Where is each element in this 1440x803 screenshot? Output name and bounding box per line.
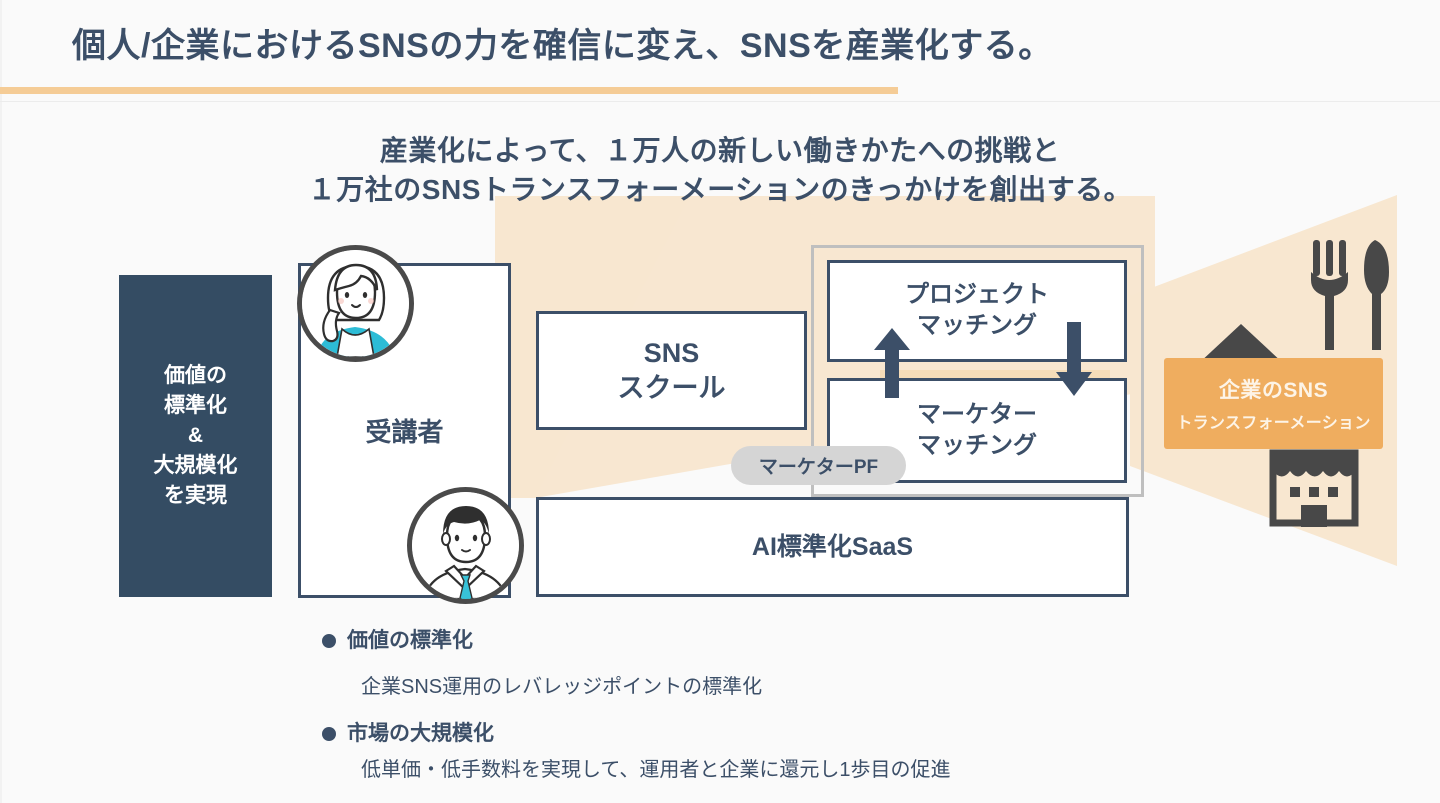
header-divider [0, 101, 1440, 102]
navy-line-2: 標準化 [154, 391, 238, 421]
sns-school-box: SNS スクール [536, 311, 807, 430]
value-standardization-panel: 価値の 標準化 & 大規模化 を実現 [119, 275, 272, 597]
slide-root: 個人/企業におけるSNSの力を確信に変え、SNSを産業化する。 産業化によって、… [0, 0, 1440, 803]
bullet-item: 市場の大規模化 [322, 719, 1142, 748]
fork-and-knife-icon [1305, 238, 1395, 353]
subtitle-line-1: 産業化によって、１万人の新しい働きかたへの挑戦と [380, 135, 1060, 166]
shop-icon [1268, 447, 1360, 527]
avatar-male-learner [407, 487, 524, 604]
marketer-pf-pill: マーケターPF [731, 446, 906, 485]
bullet-dot-icon [322, 634, 336, 648]
marketer-matching-line-2: マッチング [917, 431, 1037, 462]
bullet-detail: 企業SNS運用のレバレッジポイントの標準化 [361, 672, 1142, 702]
value-standardization-text: 価値の 標準化 & 大規模化 を実現 [154, 361, 238, 510]
header-accent-rule [0, 87, 898, 94]
page-title: 個人/企業におけるSNSの力を確信に変え、SNSを産業化する。 [72, 18, 1053, 67]
sns-school-line-1: SNS [618, 336, 726, 371]
bullet-item: 価値の標準化 [322, 626, 1142, 655]
navy-line-4: 大規模化 [154, 451, 238, 481]
project-matching-line-1: プロジェクト [905, 280, 1049, 311]
corporate-sns-transformation-box: 企業のSNS トランスフォーメーション [1164, 358, 1383, 449]
arrow-down-icon [1054, 320, 1094, 398]
bullet-heading: 価値の標準化 [347, 626, 473, 655]
ai-saas-label: AI標準化SaaS [752, 531, 913, 563]
bullet-list: 価値の標準化 企業SNS運用のレバレッジポイントの標準化 市場の大規模化 低単価… [322, 626, 1142, 785]
subtitle: 産業化によって、１万人の新しい働きかたへの挑戦と １万社のSNSトランスフォーメ… [0, 132, 1440, 209]
navy-line-3: & [154, 421, 238, 451]
cta-line-2: トランスフォーメーション [1176, 409, 1370, 433]
bullet-detail: 低単価・低手数料を実現して、運用者と企業に還元し1歩目の促進 [361, 755, 1142, 785]
marketer-pf-label: マーケターPF [759, 452, 878, 479]
arrow-up-icon [872, 326, 912, 400]
cta-line-1: 企業のSNS [1219, 374, 1328, 404]
avatar-female-learner [297, 245, 414, 362]
subtitle-line-2: １万社のSNSトランスフォーメーションのきっかけを創出する。 [0, 171, 1440, 210]
project-matching-line-2: マッチング [905, 311, 1049, 342]
navy-line-1: 価値の [154, 361, 238, 391]
slide-left-edge [0, 0, 2, 803]
ai-saas-box: AI標準化SaaS [536, 497, 1129, 597]
bullet-dot-icon [322, 727, 336, 741]
navy-line-5: を実現 [154, 481, 238, 511]
bullet-heading: 市場の大規模化 [347, 719, 494, 748]
marketer-matching-line-1: マーケター [917, 400, 1037, 431]
learner-box-label: 受講者 [365, 412, 443, 449]
sns-school-line-2: スクール [618, 371, 726, 406]
